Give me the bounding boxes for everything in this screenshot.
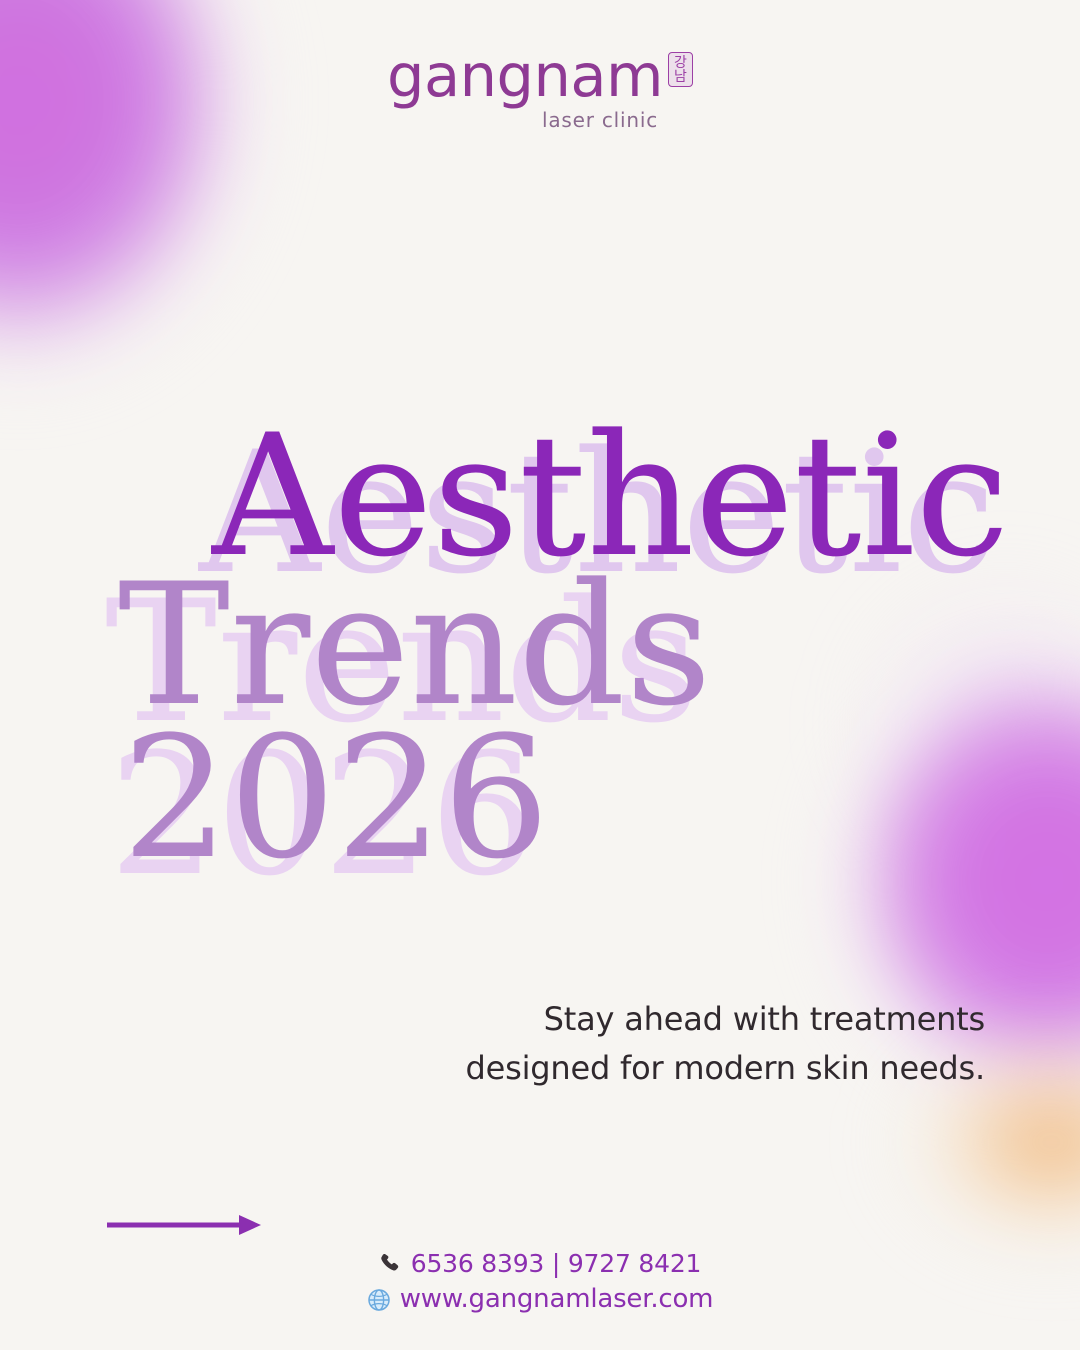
subtitle-line-1: Stay ahead with treatments [365,995,985,1044]
subtitle: Stay ahead with treatments designed for … [365,995,985,1092]
globe-icon [367,1288,391,1312]
logo-tagline: laser clinic [542,108,658,132]
subtitle-line-2: designed for modern skin needs. [365,1044,985,1093]
badge-char-bottom: 남 [674,70,687,84]
arrow-right-icon[interactable] [107,1213,262,1237]
headline-line-3: 2026 [0,717,1080,880]
footer-phone-row[interactable]: 6536 8393 | 9727 8421 [379,1246,702,1282]
logo-wordmark-row: gangnam 강 남 [387,48,693,105]
footer-website-row[interactable]: www.gangnamlaser.com [367,1281,714,1318]
brand-logo: gangnam 강 남 laser clinic [0,48,1080,132]
page-title: Aesthetic Trends 2026 [0,415,1080,880]
phone-number: 6536 8393 | 9727 8421 [411,1246,702,1282]
badge-char-top: 강 [674,56,687,70]
logo-wordmark: gangnam [387,48,663,105]
phone-icon [379,1252,402,1275]
website-url: www.gangnamlaser.com [400,1281,714,1318]
korean-badge-icon: 강 남 [668,52,693,87]
footer-contact: 6536 8393 | 9727 8421 www.gangnamlaser.c… [0,1246,1080,1318]
